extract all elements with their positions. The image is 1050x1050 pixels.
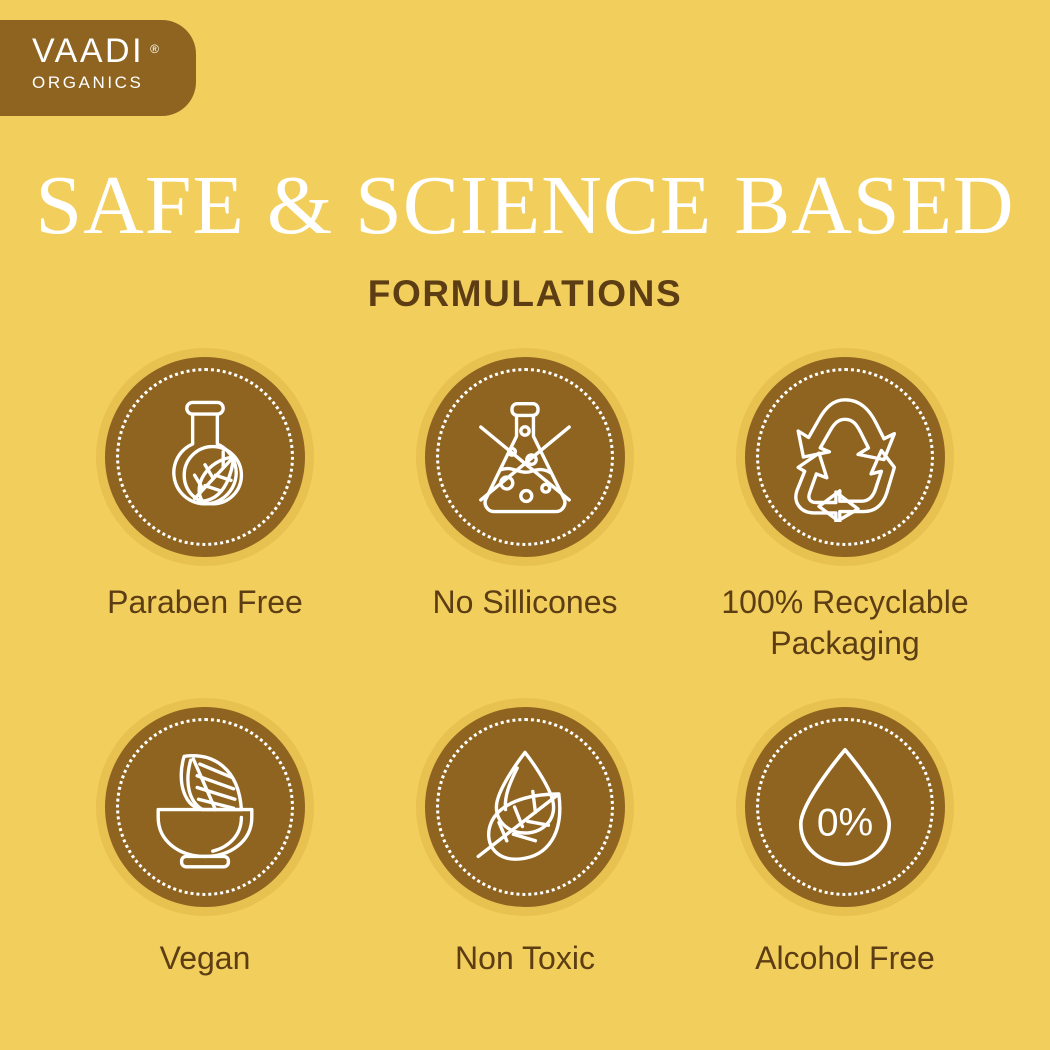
- droplet-zero-percent-icon: 0%: [780, 742, 910, 872]
- badge-vegan: [96, 698, 314, 916]
- bowl-leaf-icon: [140, 742, 270, 872]
- badge-disc: [425, 707, 625, 907]
- registered-trademark-icon: ®: [150, 30, 159, 68]
- badge-disc: 0%: [745, 707, 945, 907]
- feature-item-no-sillicones: No Sillicones: [365, 348, 685, 698]
- badge-non-toxic: [416, 698, 634, 916]
- recycling-icon: [780, 392, 910, 522]
- badge-alcohol-free: 0%: [736, 698, 954, 916]
- feature-item-non-toxic: Non Toxic: [365, 698, 685, 1048]
- badge-disc: [105, 707, 305, 907]
- brand-name: VAADI: [32, 32, 144, 70]
- feature-item-vegan: Vegan: [45, 698, 365, 1048]
- crossed-out-flask-icon: [460, 392, 590, 522]
- badge-recyclable-packaging: [736, 348, 954, 566]
- brand-wordmark: VAADI ®: [32, 32, 144, 70]
- feature-label: Alcohol Free: [755, 938, 935, 979]
- feature-label: Vegan: [160, 938, 251, 979]
- feature-label: No Sillicones: [433, 582, 618, 623]
- flask-leaf-icon: [140, 392, 270, 522]
- page-title: SAFE & SCIENCE BASED: [0, 160, 1050, 252]
- page-subtitle: FORMULATIONS: [0, 272, 1050, 316]
- badge-disc: [425, 357, 625, 557]
- feature-badge-grid: Paraben Free: [45, 348, 1005, 1048]
- feature-item-alcohol-free: 0% Alcohol Free: [685, 698, 1005, 1048]
- promo-graphic-page: { "brand": { "name": "VAADI", "registere…: [0, 0, 1050, 1050]
- droplet-leaf-icon: [460, 742, 590, 872]
- badge-paraben-free: [96, 348, 314, 566]
- brand-tagline: ORGANICS: [32, 72, 196, 94]
- feature-label: 100% Recyclable Packaging: [695, 582, 995, 664]
- badge-no-sillicones: [416, 348, 634, 566]
- badge-disc: [745, 357, 945, 557]
- feature-label: Paraben Free: [107, 582, 303, 623]
- feature-item-paraben-free: Paraben Free: [45, 348, 365, 698]
- zero-percent-label: 0%: [817, 802, 873, 845]
- feature-label: Non Toxic: [455, 938, 595, 979]
- feature-item-recyclable-packaging: 100% Recyclable Packaging: [685, 348, 1005, 698]
- brand-logo-badge: VAADI ® ORGANICS: [0, 20, 196, 116]
- badge-disc: [105, 357, 305, 557]
